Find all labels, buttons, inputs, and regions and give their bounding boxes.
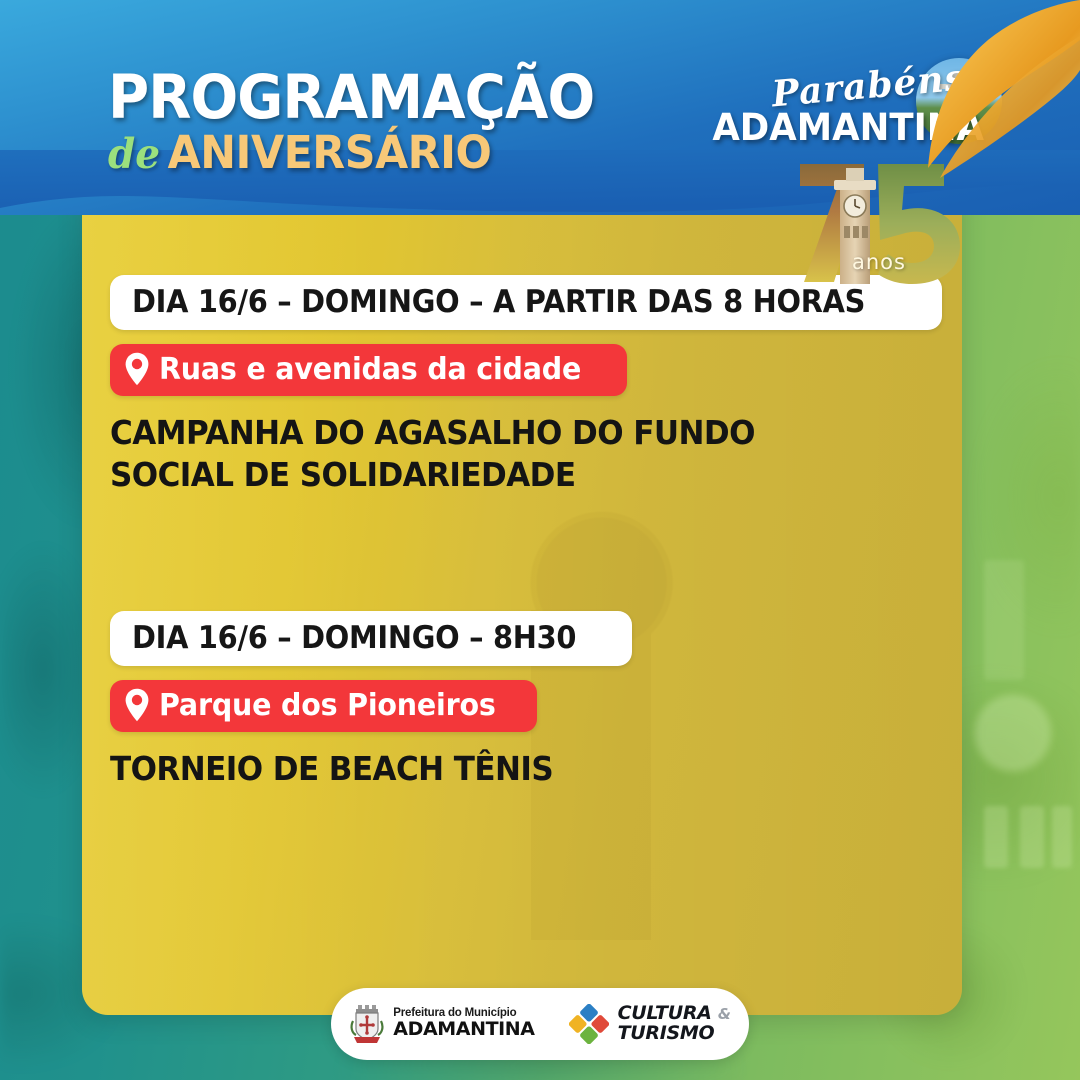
title-de: de: [108, 130, 160, 178]
event-place-label: Parque dos Pioneiros: [159, 688, 496, 723]
events-list: DIA 16/6 – DOMINGO – A PARTIR DAS 8 HORA…: [110, 275, 910, 791]
event-item: DIA 16/6 – DOMINGO – 8H30 Parque dos Pio…: [110, 611, 910, 790]
emblem-anos-label: anos: [852, 250, 906, 274]
cultura-word: CULTURA: [618, 1002, 712, 1024]
ampersand-label: &: [718, 1005, 731, 1023]
diamond-logo-icon: [569, 1004, 609, 1044]
prefeitura-text: Prefeitura do Município ADAMANTINA: [393, 1008, 534, 1039]
gold-page-curl-icon: [910, 0, 1080, 185]
title-aniversario: ANIVERSÁRIO: [168, 126, 492, 179]
ghost-building-bar: [1020, 806, 1044, 868]
poster-root: PROGRAMAÇÃO deANIVERSÁRIO Parabéns ADAMA…: [0, 0, 1080, 1080]
cultura-turismo-logo: CULTURA & TURISMO: [569, 1004, 731, 1044]
event-date-label: DIA 16/6 – DOMINGO – A PARTIR DAS 8 HORA…: [132, 284, 865, 320]
map-pin-icon: [124, 352, 150, 386]
event-date-label: DIA 16/6 – DOMINGO – 8H30: [132, 620, 576, 656]
turismo-label: TURISMO: [618, 1024, 731, 1044]
event-description: CAMPANHA DO AGASALHO DO FUNDO SOCIAL DE …: [110, 412, 862, 496]
title-programacao: PROGRAMAÇÃO: [108, 70, 594, 126]
ghost-building-bar: [1052, 806, 1072, 868]
event-description: TORNEIO DE BEACH TÊNIS: [110, 748, 862, 790]
map-pin-icon: [124, 688, 150, 722]
page-title: PROGRAMAÇÃO deANIVERSÁRIO: [108, 70, 637, 174]
prefeitura-logo: Prefeitura do Município ADAMANTINA: [349, 1003, 534, 1045]
coat-of-arms-icon: [349, 1003, 385, 1045]
event-date-badge: DIA 16/6 – DOMINGO – 8H30: [110, 611, 632, 666]
ghost-tower-shape: [984, 560, 1024, 680]
ghost-building-bar: [984, 806, 1008, 868]
event-place-badge: Ruas e avenidas da cidade: [110, 344, 627, 396]
ghost-clock-face: [970, 690, 1056, 776]
event-place-label: Ruas e avenidas da cidade: [159, 352, 581, 387]
event-item: DIA 16/6 – DOMINGO – A PARTIR DAS 8 HORA…: [110, 275, 910, 496]
footer-logo-bar: Prefeitura do Município ADAMANTINA CULTU…: [331, 988, 749, 1060]
cultura-turismo-text: CULTURA & TURISMO: [618, 1004, 731, 1044]
event-place-badge: Parque dos Pioneiros: [110, 680, 537, 732]
title-subline: deANIVERSÁRIO: [108, 132, 610, 174]
prefeitura-city-label: ADAMANTINA: [393, 1020, 534, 1039]
